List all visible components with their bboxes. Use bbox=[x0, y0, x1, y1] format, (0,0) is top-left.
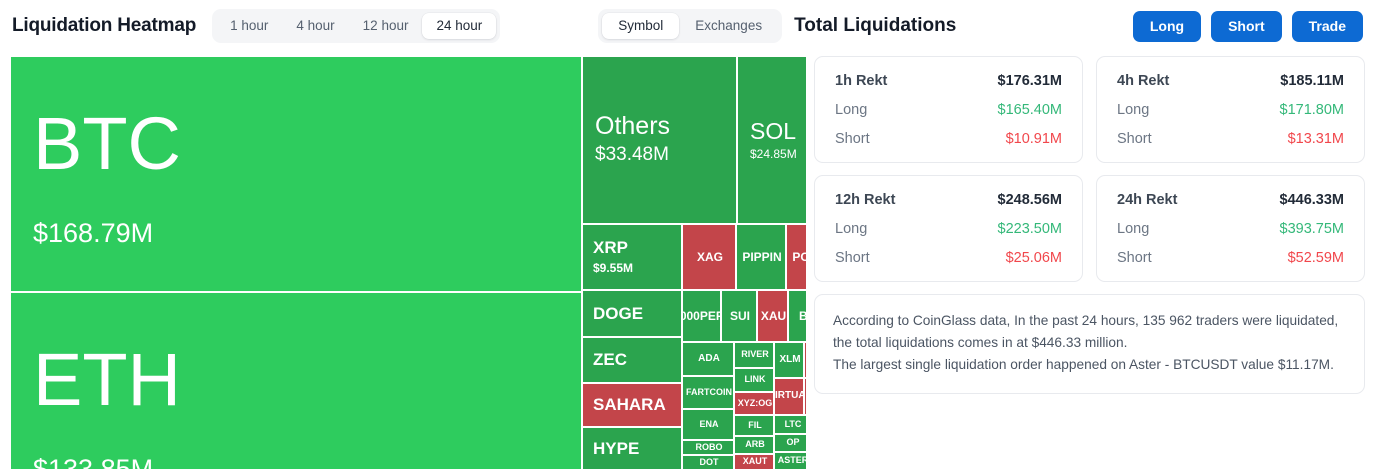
treemap-tile[interactable]: XAUT bbox=[734, 454, 774, 470]
timeframe-selector[interactable]: 1 hour 4 hour 12 hour 24 hour bbox=[212, 9, 500, 43]
treemap-tile-symbol: XAU bbox=[761, 310, 786, 323]
treemap-tile[interactable]: VIRTUAL bbox=[774, 378, 804, 415]
treemap-tile[interactable]: GIGA bbox=[804, 378, 806, 415]
stat-long-value: $165.40M bbox=[998, 102, 1063, 118]
treemap-tile-symbol: LTC bbox=[785, 420, 802, 429]
treemap-tile[interactable]: Others$33.48M bbox=[582, 56, 737, 224]
stat-card-1h: 1h Rekt $176.31M Long $165.40M Short $10… bbox=[814, 56, 1083, 163]
stat-long-value: $171.80M bbox=[1280, 102, 1345, 118]
treemap-tile-symbol: XAUT bbox=[743, 457, 768, 466]
treemap-tile[interactable]: SUI bbox=[721, 290, 757, 342]
treemap-tile-symbol: LINK bbox=[745, 375, 766, 384]
treemap-tile-symbol: PIPPIN bbox=[742, 251, 781, 264]
treemap-tile[interactable]: ARB bbox=[734, 436, 774, 454]
stat-title: 12h Rekt bbox=[835, 192, 895, 208]
stat-total-value: $446.33M bbox=[1280, 192, 1345, 208]
stat-row-long: Long $171.80M bbox=[1117, 102, 1344, 118]
stat-short-value: $52.59M bbox=[1288, 250, 1344, 266]
treemap-tile[interactable]: ASTER bbox=[774, 452, 806, 470]
treemap-tile-symbol: Others bbox=[595, 113, 736, 139]
total-liquidations-panel: 1h Rekt $176.31M Long $165.40M Short $10… bbox=[806, 52, 1377, 470]
treemap-tile-symbol: XRP bbox=[593, 239, 681, 257]
treemap-tile[interactable]: ETH$133.85M bbox=[10, 292, 582, 470]
stat-card-24h: 24h Rekt $446.33M Long $393.75M Short $5… bbox=[1096, 175, 1365, 282]
liquidation-dashboard: Liquidation Heatmap 1 hour 4 hour 12 hou… bbox=[0, 0, 1377, 470]
treemap-tile-symbol: BTC bbox=[33, 105, 581, 183]
treemap-tile[interactable]: LTC bbox=[774, 415, 806, 434]
treemap-tile[interactable]: XLM bbox=[774, 342, 804, 378]
treemap-tile[interactable]: XAU bbox=[757, 290, 788, 342]
stat-row-total: 12h Rekt $248.56M bbox=[835, 192, 1062, 208]
stat-long-label: Long bbox=[835, 221, 867, 237]
dashboard-header: Liquidation Heatmap 1 hour 4 hour 12 hou… bbox=[0, 0, 1377, 52]
stat-row-short: Short $13.31M bbox=[1117, 131, 1344, 147]
stat-row-long: Long $223.50M bbox=[835, 221, 1062, 237]
total-liquidations-title: Total Liquidations bbox=[794, 15, 956, 37]
treemap-tile-value: $133.85M bbox=[33, 453, 581, 470]
stat-card-12h: 12h Rekt $248.56M Long $223.50M Short $2… bbox=[814, 175, 1083, 282]
treemap-tile[interactable]: LINK bbox=[734, 368, 774, 392]
treemap-tile-symbol: SAHARA bbox=[593, 396, 681, 414]
stat-row-total: 4h Rekt $185.11M bbox=[1117, 73, 1344, 89]
stat-short-label: Short bbox=[1117, 131, 1152, 147]
treemap-tile[interactable]: ADA bbox=[682, 342, 734, 376]
stat-row-total: 1h Rekt $176.31M bbox=[835, 73, 1062, 89]
treemap-tile-symbol: HYPE bbox=[593, 440, 681, 458]
stat-short-label: Short bbox=[1117, 250, 1152, 266]
treemap-tile-symbol: ETH bbox=[33, 341, 581, 419]
treemap-tile-symbol: ADA bbox=[698, 354, 720, 365]
treemap-tile-symbol: ASTER bbox=[778, 456, 806, 465]
treemap-tile-symbol: ROBO bbox=[696, 443, 723, 452]
stat-card-row-bottom: 12h Rekt $248.56M Long $223.50M Short $2… bbox=[814, 175, 1365, 282]
stat-long-label: Long bbox=[1117, 102, 1149, 118]
treemap-tile-symbol: SUI bbox=[730, 310, 750, 323]
stat-total-value: $176.31M bbox=[998, 73, 1063, 89]
treemap-tile[interactable]: ENA bbox=[682, 409, 734, 440]
treemap-tile[interactable]: BTC$168.79M bbox=[10, 56, 582, 292]
treemap-tile[interactable]: RIVER bbox=[734, 342, 774, 368]
treemap-tile[interactable]: OP bbox=[774, 434, 806, 452]
view-mode-tab-exchanges[interactable]: Exchanges bbox=[679, 13, 778, 39]
treemap-tile[interactable]: FARTCOIN bbox=[682, 376, 734, 409]
treemap-tile-symbol: SOL bbox=[750, 119, 806, 143]
treemap-tile[interactable]: 1000PEPE bbox=[682, 290, 721, 342]
stat-title: 24h Rekt bbox=[1117, 192, 1177, 208]
treemap-tile-symbol: FARTCOIN bbox=[686, 388, 732, 397]
treemap-tile[interactable]: POWR bbox=[786, 224, 806, 290]
dashboard-body: BTC$168.79METH$133.85MOthers$33.48MSOL$2… bbox=[0, 52, 1377, 470]
treemap-tile[interactable]: PIPPIN bbox=[736, 224, 786, 290]
treemap-tile[interactable]: HYPE bbox=[582, 427, 682, 470]
treemap-tile-symbol: DOT bbox=[700, 458, 719, 467]
treemap-tile-symbol: ARB bbox=[745, 440, 765, 449]
stat-title: 1h Rekt bbox=[835, 73, 887, 89]
stat-row-long: Long $393.75M bbox=[1117, 221, 1344, 237]
stat-row-short: Short $10.91M bbox=[835, 131, 1062, 147]
stat-long-label: Long bbox=[835, 102, 867, 118]
stat-row-short: Short $52.59M bbox=[1117, 250, 1344, 266]
stat-title: 4h Rekt bbox=[1117, 73, 1169, 89]
treemap-tile-symbol: BCH bbox=[799, 310, 806, 323]
treemap-tile[interactable]: XRP$9.55M bbox=[582, 224, 682, 290]
long-button[interactable]: Long bbox=[1133, 11, 1201, 42]
treemap-tile-symbol: OP bbox=[786, 438, 799, 447]
stat-card-4h: 4h Rekt $185.11M Long $171.80M Short $13… bbox=[1096, 56, 1365, 163]
timeframe-tab-4h[interactable]: 4 hour bbox=[282, 13, 348, 39]
stat-long-value: $223.50M bbox=[998, 221, 1063, 237]
stat-short-label: Short bbox=[835, 131, 870, 147]
stat-total-value: $185.11M bbox=[1280, 73, 1344, 89]
treemap-tile-symbol: XAG bbox=[697, 251, 723, 264]
treemap-tile[interactable]: FIL bbox=[734, 415, 774, 436]
treemap-tile-value: $33.48M bbox=[595, 144, 736, 167]
stat-row-long: Long $165.40M bbox=[835, 102, 1062, 118]
stat-long-label: Long bbox=[1117, 221, 1149, 237]
treemap-tile[interactable]: XAG bbox=[682, 224, 736, 290]
treemap-tile-value: $9.55M bbox=[593, 261, 681, 275]
treemap-tile[interactable]: XYZ:OG bbox=[734, 392, 774, 415]
short-button[interactable]: Short bbox=[1211, 11, 1282, 42]
treemap-tile[interactable]: ROBO bbox=[682, 440, 734, 455]
treemap-tile-symbol: DOGE bbox=[593, 305, 681, 323]
treemap-tile-symbol: 1000PEPE bbox=[682, 310, 721, 323]
liquidation-treemap[interactable]: BTC$168.79METH$133.85MOthers$33.48MSOL$2… bbox=[10, 56, 806, 470]
timeframe-tab-1h[interactable]: 1 hour bbox=[216, 13, 282, 39]
view-mode-tab-symbol[interactable]: Symbol bbox=[602, 13, 679, 39]
stat-card-row-top: 1h Rekt $176.31M Long $165.40M Short $10… bbox=[814, 56, 1365, 163]
treemap-tile[interactable]: DOT bbox=[682, 455, 734, 470]
stat-row-total: 24h Rekt $446.33M bbox=[1117, 192, 1344, 208]
view-mode-selector[interactable]: Symbol Exchanges bbox=[598, 9, 782, 43]
treemap-tile-symbol: VIRTUAL bbox=[774, 391, 804, 402]
treemap-tile-symbol: RIVER bbox=[741, 350, 769, 359]
liquidation-summary-note: According to CoinGlass data, In the past… bbox=[814, 294, 1365, 394]
summary-line-1: According to CoinGlass data, In the past… bbox=[833, 310, 1346, 354]
summary-line-2: The largest single liquidation order hap… bbox=[833, 354, 1346, 376]
treemap-tile[interactable]: SOL$24.85M bbox=[737, 56, 806, 224]
trade-button[interactable]: Trade bbox=[1292, 11, 1363, 42]
treemap-tile[interactable]: ZEC bbox=[582, 337, 682, 383]
treemap-tile-symbol: ZEC bbox=[593, 351, 681, 369]
liquidation-treemap-panel: BTC$168.79METH$133.85MOthers$33.48MSOL$2… bbox=[0, 52, 806, 470]
page-title: Liquidation Heatmap bbox=[12, 15, 196, 37]
stat-short-value: $13.31M bbox=[1288, 131, 1344, 147]
stat-short-value: $10.91M bbox=[1006, 131, 1062, 147]
stat-short-label: Short bbox=[835, 250, 870, 266]
header-action-group: Long Short Trade bbox=[1133, 11, 1365, 42]
treemap-tile[interactable]: BCH bbox=[788, 290, 806, 342]
treemap-tile[interactable]: SAHARA bbox=[582, 383, 682, 427]
stat-long-value: $393.75M bbox=[1280, 221, 1345, 237]
treemap-tile-symbol: XYZ:OG bbox=[738, 399, 773, 408]
timeframe-tab-12h[interactable]: 12 hour bbox=[349, 13, 423, 39]
treemap-tile-symbol: POWR bbox=[792, 251, 806, 264]
treemap-tile-symbol: FIL bbox=[748, 421, 762, 430]
treemap-tile-symbol: ENA bbox=[699, 420, 718, 429]
treemap-tile[interactable]: DOGE bbox=[582, 290, 682, 337]
stat-total-value: $248.56M bbox=[998, 192, 1063, 208]
treemap-tile-symbol: XLM bbox=[779, 355, 800, 366]
stat-row-short: Short $25.06M bbox=[835, 250, 1062, 266]
stat-short-value: $25.06M bbox=[1006, 250, 1062, 266]
treemap-tile-value: $168.79M bbox=[33, 217, 581, 249]
treemap-tile[interactable]: AAVE bbox=[804, 342, 806, 378]
treemap-tile-value: $24.85M bbox=[750, 147, 806, 161]
timeframe-tab-24h[interactable]: 24 hour bbox=[422, 13, 496, 39]
